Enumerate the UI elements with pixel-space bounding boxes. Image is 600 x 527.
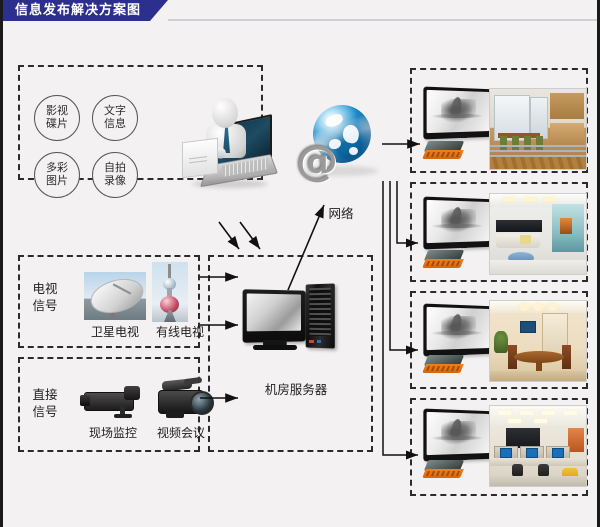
flat-tv-icon-4 [424,410,496,460]
source-circle-text-info[interactable]: 文字 信息 [92,95,138,141]
satellite-dish-icon [84,272,146,320]
diagram-canvas: 信息发布解决方案图 影视 碟片 文字 信息 多彩 图片 自拍 录像 [0,0,600,527]
source-circle-video-disc[interactable]: 影视 碟片 [34,95,80,141]
banner-tail-shape [150,0,168,21]
title-banner: 信息发布解决方案图 [3,0,150,21]
modern-living-room-photo [489,193,587,275]
network-label: 网络 [316,206,366,222]
flat-tv-icon-1 [424,88,496,138]
cctv-camera-icon [80,378,148,420]
circle-line2: 碟片 [46,118,68,131]
video-conference-caption: 视频会议 [134,426,228,440]
media-player-box-icon-1 [424,141,464,161]
tv-tower-icon [152,262,188,322]
dining-room-photo [489,300,587,382]
flat-tv-icon-2 [424,198,496,248]
flat-tv-icon-3 [424,305,496,355]
person-at-laptop-icon [176,96,274,196]
circle-line2: 图片 [46,175,68,188]
media-player-box-icon-2 [424,250,464,270]
media-player-box-icon-3 [424,355,464,375]
source-circle-colorful-images[interactable]: 多彩 图片 [34,152,80,198]
tv-signal-label: 电视 信号 [26,281,64,315]
server-computer-icon [243,284,349,366]
office-workstations-photo [489,405,587,487]
circle-line2: 录像 [104,175,126,188]
source-circle-self-recording[interactable]: 自拍 录像 [92,152,138,198]
banner-underline [168,19,597,21]
page-left-edge [0,0,3,527]
server-label: 机房服务器 [240,382,352,398]
kitchen-dining-room-photo [489,88,587,170]
direct-signal-label: 直接 信号 [26,387,64,421]
media-player-box-icon-4 [424,460,464,480]
cable-tv-caption: 有线电视 [133,325,227,339]
camcorder-icon [150,376,220,422]
at-symbol-icon: @ [296,140,338,182]
circle-line2: 信息 [104,118,126,131]
page-title: 信息发布解决方案图 [3,0,141,21]
